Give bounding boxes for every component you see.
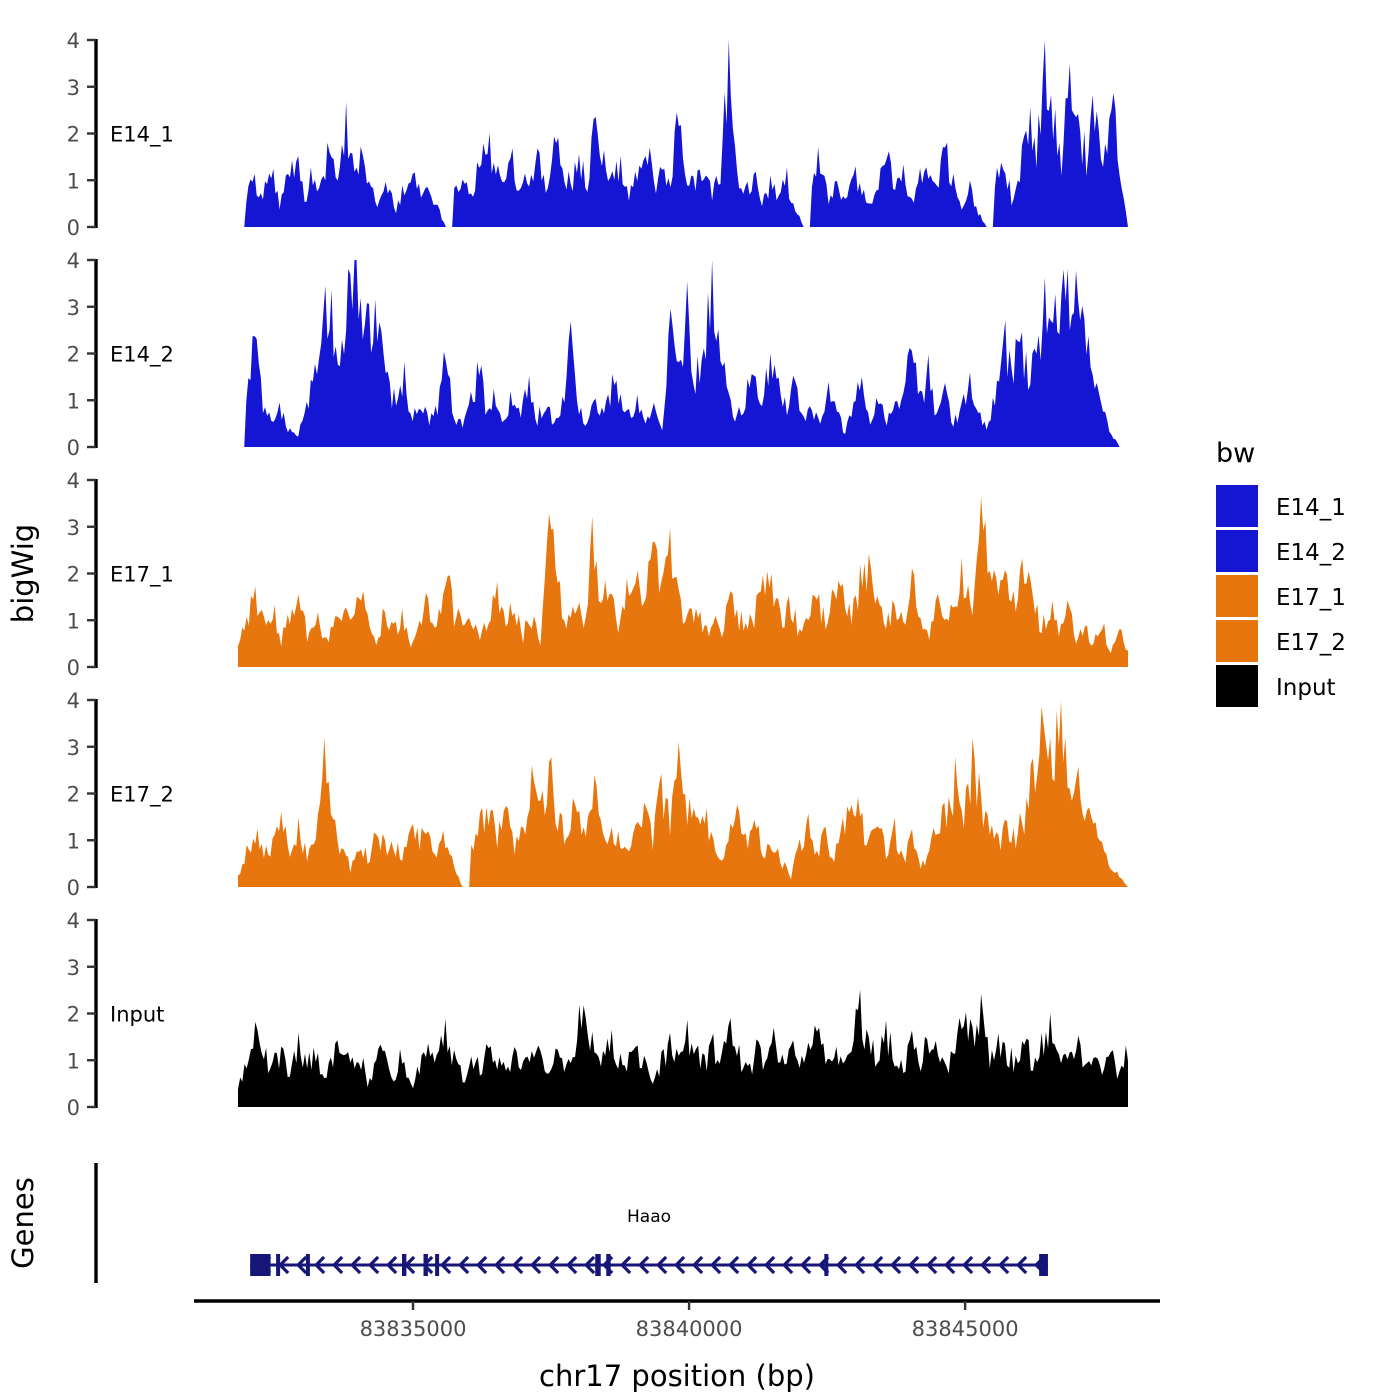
- gene-exon-block: [306, 1254, 310, 1276]
- signal-area-e17_1: [238, 497, 1128, 667]
- x-tick-label: 83845000: [912, 1317, 1019, 1341]
- y-tick-label: 2: [67, 1003, 80, 1027]
- legend-swatch: [1216, 665, 1258, 707]
- y-tick-label: 4: [67, 909, 80, 933]
- legend-item-label: E14_1: [1276, 495, 1346, 521]
- track-name-label: E17_1: [110, 563, 174, 588]
- track-panel-e14_1: 01234E14_1: [67, 29, 1128, 240]
- y-tick-label: 3: [67, 76, 80, 100]
- legend-title: bw: [1216, 438, 1255, 469]
- y-tick-label: 1: [67, 609, 80, 633]
- genome-browser-figure: 01234E14_101234E14_201234E17_101234E17_2…: [0, 0, 1400, 1400]
- y-tick-label: 2: [67, 563, 80, 587]
- signal-area-e14_2: [238, 260, 1128, 447]
- legend-swatch: [1216, 575, 1258, 617]
- gene-exon-block: [606, 1254, 610, 1276]
- y-tick-label: 3: [67, 956, 80, 980]
- gene-exon-block: [1039, 1254, 1048, 1276]
- gene-exon-block: [595, 1254, 601, 1276]
- legend-item-label: E17_2: [1276, 630, 1346, 656]
- track-panel-e17_2: 01234E17_2: [67, 689, 1128, 900]
- y-tick-label: 2: [67, 123, 80, 147]
- y-axis-title-bigwig: bigWig: [6, 524, 40, 623]
- legend-swatch: [1216, 620, 1258, 662]
- gene-exon-block: [402, 1254, 406, 1276]
- track-name-label: E14_1: [110, 123, 174, 148]
- track-name-label: Input: [110, 1003, 164, 1027]
- legend-item-e14_1[interactable]: E14_1: [1216, 485, 1346, 527]
- gene-exon-block: [250, 1254, 270, 1276]
- signal-area-e17_2: [238, 701, 1128, 887]
- track-panel-e14_2: 01234E14_2: [67, 249, 1128, 460]
- y-tick-label: 4: [67, 249, 80, 273]
- gene-exon-block: [424, 1254, 428, 1276]
- y-tick-label: 1: [67, 389, 80, 413]
- gene-exon-block: [824, 1254, 828, 1276]
- y-tick-label: 0: [67, 436, 80, 460]
- y-tick-label: 4: [67, 469, 80, 493]
- legend-item-label: E14_2: [1276, 540, 1346, 566]
- gene-haao[interactable]: [250, 1254, 1048, 1276]
- legend-item-label: E17_1: [1276, 585, 1346, 611]
- track-name-label: E17_2: [110, 783, 174, 808]
- legend-item-input[interactable]: Input: [1216, 665, 1336, 707]
- gene-name-label: Haao: [627, 1207, 671, 1227]
- y-tick-label: 0: [67, 876, 80, 900]
- signal-area-input: [238, 990, 1128, 1107]
- figure-canvas: 01234E14_101234E14_201234E17_101234E17_2…: [0, 0, 1400, 1400]
- y-axis-title-genes: Genes: [6, 1177, 40, 1269]
- gene-exon-block: [435, 1254, 439, 1276]
- y-tick-label: 3: [67, 296, 80, 320]
- track-panel-input: 01234Input: [67, 909, 1128, 1120]
- legend-swatch: [1216, 530, 1258, 572]
- y-tick-label: 4: [67, 29, 80, 53]
- legend-item-label: Input: [1276, 675, 1336, 701]
- track-name-label: E14_2: [110, 343, 174, 368]
- track-panel-e17_1: 01234E17_1: [67, 469, 1128, 680]
- legend-swatch: [1216, 485, 1258, 527]
- y-tick-label: 2: [67, 783, 80, 807]
- x-tick-label: 83835000: [360, 1317, 467, 1341]
- y-tick-label: 1: [67, 1049, 80, 1073]
- y-tick-label: 0: [67, 656, 80, 680]
- legend-item-e14_2[interactable]: E14_2: [1216, 530, 1346, 572]
- gene-exon-block: [276, 1254, 280, 1276]
- y-tick-label: 4: [67, 689, 80, 713]
- legend-item-e17_2[interactable]: E17_2: [1216, 620, 1346, 662]
- y-tick-label: 2: [67, 343, 80, 367]
- y-tick-label: 0: [67, 216, 80, 240]
- legend-item-e17_1[interactable]: E17_1: [1216, 575, 1346, 617]
- y-tick-label: 1: [67, 169, 80, 193]
- y-tick-label: 0: [67, 1096, 80, 1120]
- y-tick-label: 3: [67, 516, 80, 540]
- x-tick-label: 83840000: [636, 1317, 743, 1341]
- signal-area-e14_1: [238, 40, 1128, 227]
- y-tick-label: 3: [67, 736, 80, 760]
- y-tick-label: 1: [67, 829, 80, 853]
- x-axis-title: chr17 position (bp): [539, 1359, 815, 1393]
